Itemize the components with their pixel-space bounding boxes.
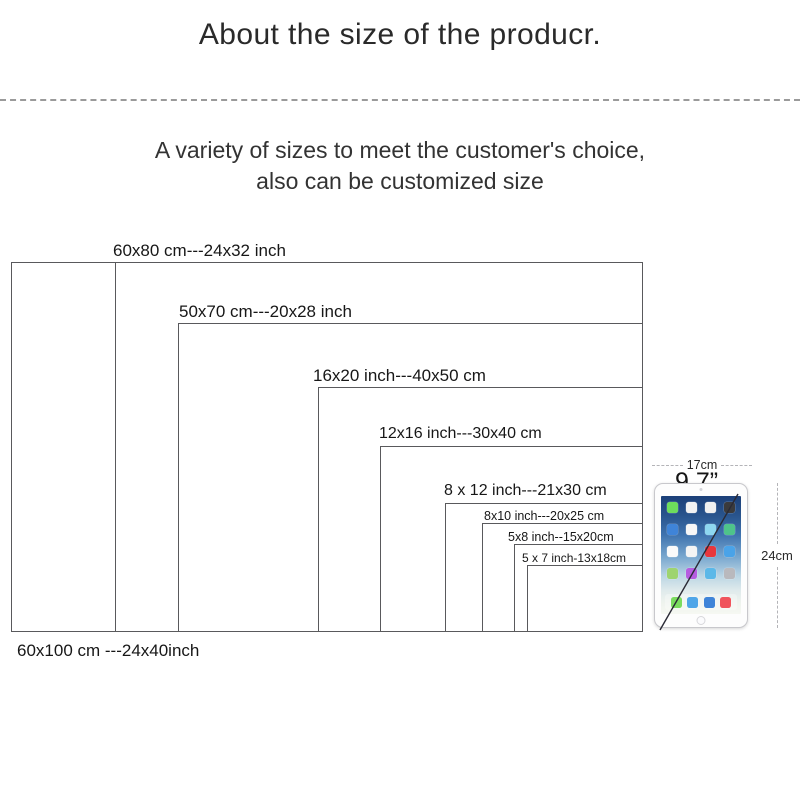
app-icon-9	[667, 546, 678, 557]
app-icon-5	[667, 524, 678, 535]
measure-dash-right	[721, 465, 752, 466]
app-icon-7	[705, 524, 716, 535]
app-icon-8	[724, 524, 735, 535]
app-icon-16	[724, 568, 735, 579]
tablet-screen	[661, 496, 741, 614]
measure-dash-left	[652, 465, 683, 466]
dock-icon-2	[687, 597, 698, 608]
app-icon-13	[667, 568, 678, 579]
app-icon-12	[724, 546, 735, 557]
size-label-60x100: 60x100 cm ---24x40inch	[17, 641, 199, 661]
tablet-camera-icon	[700, 488, 703, 491]
size-guide-page: About the size of the producr. A variety…	[0, 0, 800, 800]
dock-icon-1	[671, 597, 682, 608]
size-label-5x7: 5 x 7 inch-13x18cm	[522, 551, 626, 565]
size-frame-5x7	[527, 565, 643, 632]
tablet-height-measure: 24cm	[754, 483, 800, 628]
app-icon-11	[705, 546, 716, 557]
dock-icon-4	[720, 597, 731, 608]
measure-dash-bottom	[777, 567, 778, 628]
measure-dash-top	[777, 483, 778, 544]
subtitle-line-1: A variety of sizes to meet the customer'…	[155, 137, 645, 163]
size-label-5x8: 5x8 inch--15x20cm	[508, 530, 614, 544]
header-divider	[0, 99, 800, 101]
app-icon-grid	[666, 502, 736, 581]
size-label-8x12: 8 x 12 inch---21x30 cm	[444, 482, 607, 500]
tablet-reference: 17cm 9.7” 24cm	[650, 450, 800, 645]
app-icon-2	[686, 502, 697, 513]
app-icon-6	[686, 524, 697, 535]
tablet-dock	[665, 594, 737, 610]
size-label-50x70: 50x70 cm---20x28 inch	[179, 302, 352, 322]
app-icon-3	[705, 502, 716, 513]
page-subtitle: A variety of sizes to meet the customer'…	[0, 135, 800, 197]
app-icon-4	[724, 502, 735, 513]
tablet-body	[654, 483, 748, 628]
size-label-16x20: 16x20 inch---40x50 cm	[313, 366, 486, 386]
tablet-height-label: 24cm	[761, 548, 793, 563]
size-label-12x16: 12x16 inch---30x40 cm	[379, 425, 542, 443]
size-label-8x10: 8x10 inch---20x25 cm	[484, 509, 604, 523]
dock-icon-3	[704, 597, 715, 608]
size-label-60x80: 60x80 cm---24x32 inch	[113, 241, 286, 261]
tablet-home-button-icon	[697, 616, 706, 625]
app-icon-1	[667, 502, 678, 513]
app-icon-15	[705, 568, 716, 579]
app-icon-14	[686, 568, 697, 579]
page-title: About the size of the producr.	[0, 18, 800, 52]
subtitle-line-2: also can be customized size	[0, 166, 800, 197]
app-icon-10	[686, 546, 697, 557]
